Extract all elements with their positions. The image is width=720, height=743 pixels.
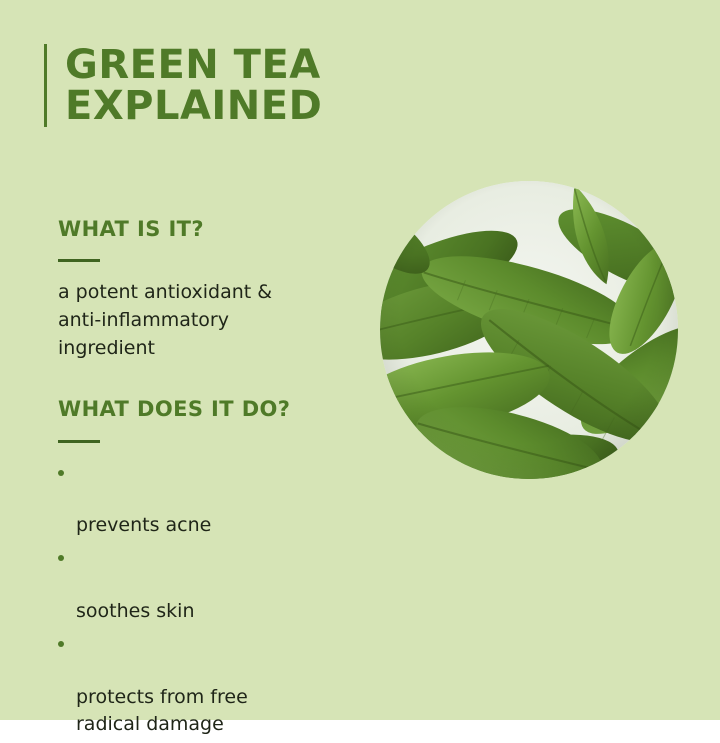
list-item-label: soothes skin — [76, 600, 195, 622]
section-divider — [58, 259, 100, 262]
benefits-list: prevents acne soothes skin protects from… — [58, 459, 358, 739]
page-title: GREEN TEA EXPLAINED — [44, 44, 322, 127]
content-column: WHAT IS IT? a potent antioxidant & anti-… — [58, 218, 358, 743]
title-text: GREEN TEA EXPLAINED — [65, 44, 322, 127]
infographic-card: GREEN TEA EXPLAINED WHAT IS IT? a potent… — [0, 0, 720, 720]
section-what-is-it: WHAT IS IT? a potent antioxidant & anti-… — [58, 218, 358, 362]
section-body: a potent antioxidant & anti-inflammatory… — [58, 278, 358, 362]
section-what-does-it-do: WHAT DOES IT DO? prevents acne soothes s… — [58, 398, 358, 738]
bullet-dot-icon — [58, 470, 64, 476]
leaf-photo-circle — [380, 181, 678, 479]
list-item: soothes skin — [58, 544, 358, 625]
section-heading: WHAT DOES IT DO? — [58, 398, 358, 421]
bullet-dot-icon — [58, 641, 64, 647]
list-item: protects from free radical damage — [58, 630, 358, 738]
green-tea-leaves-image — [380, 181, 678, 479]
list-item: prevents acne — [58, 459, 358, 540]
list-item-label: protects from free radical damage — [76, 686, 248, 735]
section-divider — [58, 440, 100, 443]
bullet-dot-icon — [58, 555, 64, 561]
section-heading: WHAT IS IT? — [58, 218, 358, 241]
list-item-label: prevents acne — [76, 514, 211, 536]
title-accent-bar — [44, 44, 47, 127]
